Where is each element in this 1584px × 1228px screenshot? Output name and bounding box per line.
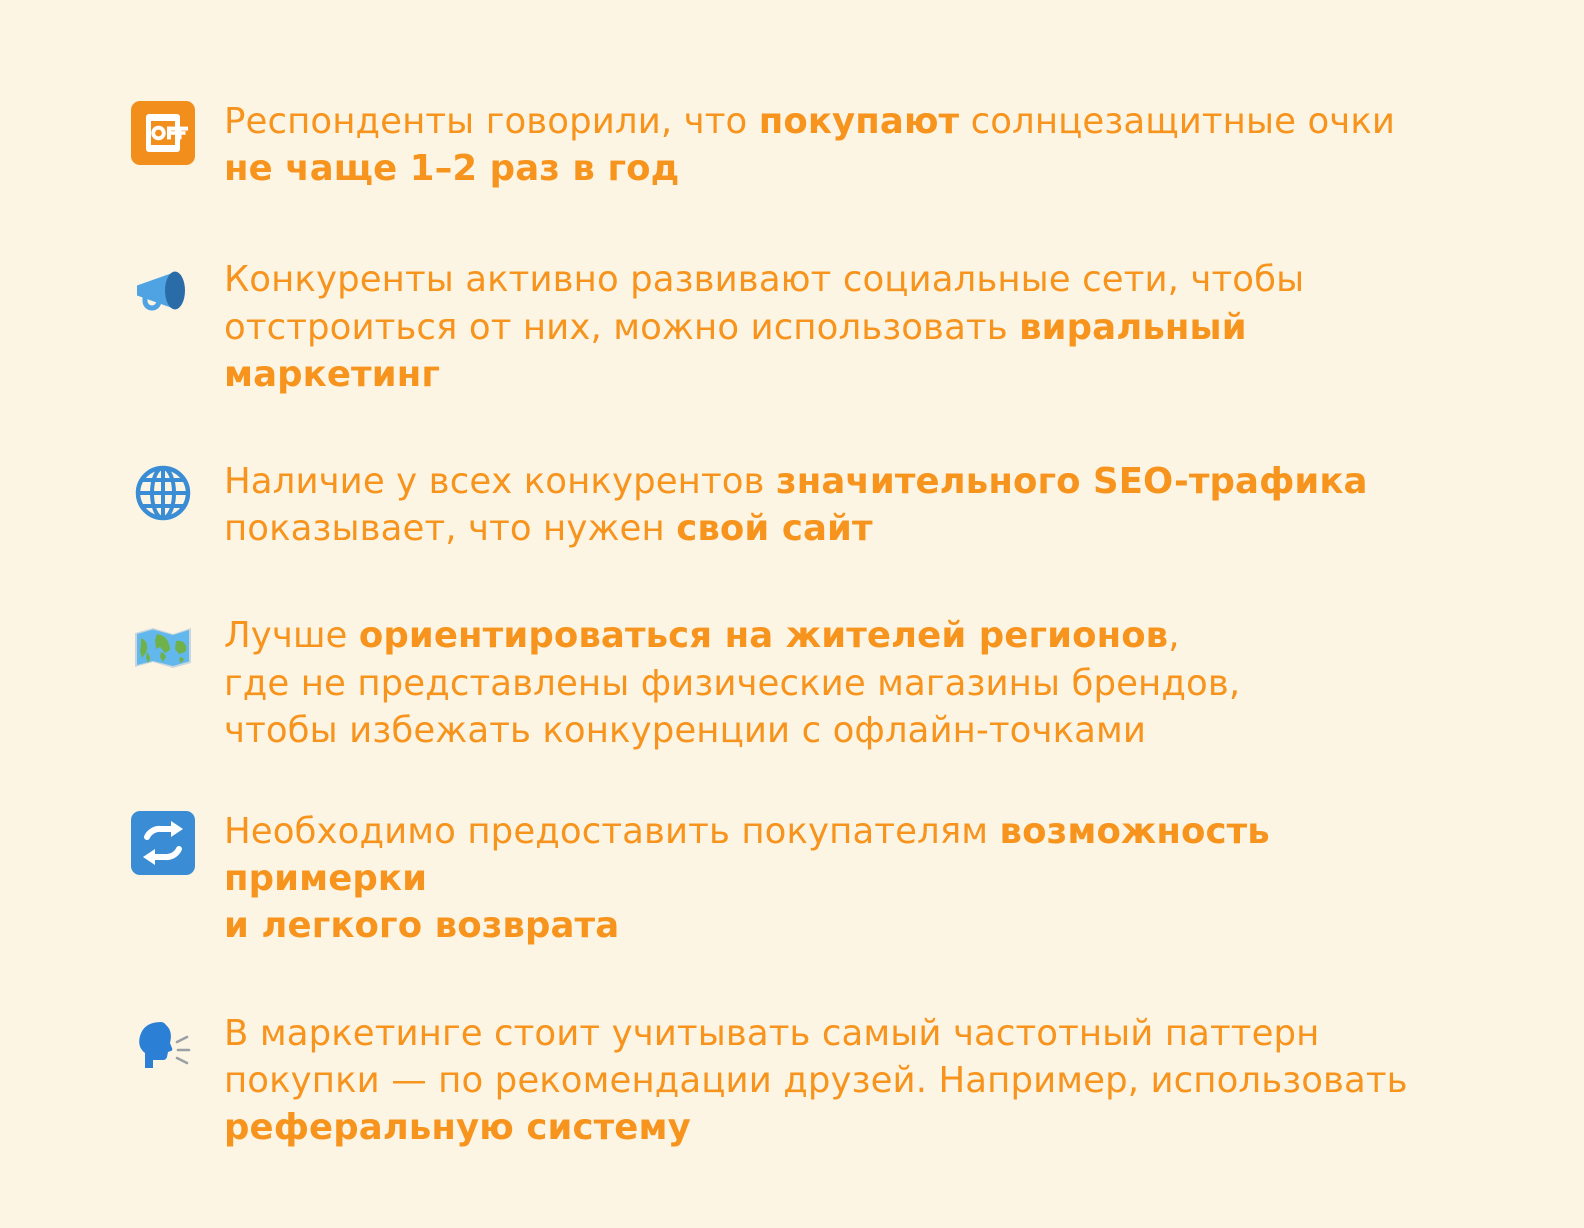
megaphone-icon bbox=[130, 258, 196, 324]
insight-text: Наличие у всех конкурентов значительного… bbox=[224, 456, 1368, 552]
insights-list: Респонденты говорили, что покупают солнц… bbox=[130, 96, 1454, 1151]
plain-text: В маркетинге стоит учитывать самый часто… bbox=[224, 1013, 1319, 1054]
emphasis-text: покупают bbox=[759, 101, 960, 142]
insight-text-line: и легкого возврата bbox=[224, 902, 1454, 949]
emphasis-text: ориентироваться на жителей регионов bbox=[359, 615, 1168, 656]
emphasis-text: не чаще 1–2 раз в год bbox=[224, 148, 679, 189]
insight-item: Наличие у всех конкурентов значительного… bbox=[130, 456, 1454, 552]
plain-text: солнцезащитные очки bbox=[959, 101, 1395, 142]
insight-text-line: не чаще 1–2 раз в год bbox=[224, 145, 1395, 192]
insight-text-line: Респонденты говорили, что покупают солнц… bbox=[224, 98, 1395, 145]
emphasis-text: реферальную систему bbox=[224, 1107, 691, 1148]
world-map-icon bbox=[130, 614, 196, 680]
insight-text-line: Конкуренты активно развивают социальные … bbox=[224, 256, 1454, 303]
insights-slide: Респонденты говорили, что покупают солнц… bbox=[0, 0, 1584, 1228]
insight-text: Лучше ориентироваться на жителей регионо… bbox=[224, 610, 1240, 754]
insight-text-line: покупки — по рекомендации друзей. Наприм… bbox=[224, 1057, 1408, 1104]
insight-text-line: Необходимо предоставить покупателям возм… bbox=[224, 808, 1454, 902]
repeat-exchange-icon bbox=[130, 810, 196, 876]
insight-text-line: В маркетинге стоит учитывать самый часто… bbox=[224, 1010, 1408, 1057]
plain-text: Необходимо предоставить покупателям bbox=[224, 811, 1000, 852]
insight-text: Конкуренты активно развивают социальные … bbox=[224, 254, 1454, 398]
plain-text: , bbox=[1168, 615, 1179, 656]
insight-text-line: Наличие у всех конкурентов значительного… bbox=[224, 458, 1368, 505]
insight-item: Необходимо предоставить покупателям возм… bbox=[130, 806, 1454, 950]
globe-icon bbox=[130, 460, 196, 526]
mobile-off-icon bbox=[130, 100, 196, 166]
plain-text: где не представлены физические магазины … bbox=[224, 663, 1240, 704]
plain-text: Лучше bbox=[224, 615, 359, 656]
plain-text: покупки — по рекомендации друзей. Наприм… bbox=[224, 1060, 1408, 1101]
insight-text-line: Лучше ориентироваться на жителей регионо… bbox=[224, 612, 1240, 659]
emphasis-text: значительного SEO-трафика bbox=[776, 461, 1368, 502]
insight-text-line: чтобы избежать конкуренции с офлайн-точк… bbox=[224, 707, 1240, 754]
insight-text-line: отстроиться от них, можно использовать в… bbox=[224, 304, 1454, 398]
insight-item: Лучше ориентироваться на жителей регионо… bbox=[130, 610, 1454, 754]
insight-text: В маркетинге стоит учитывать самый часто… bbox=[224, 1008, 1408, 1152]
emphasis-text: и легкого возврата bbox=[224, 905, 619, 946]
insight-item: Конкуренты активно развивают социальные … bbox=[130, 254, 1454, 398]
plain-text: отстроиться от них, можно использовать bbox=[224, 307, 1019, 348]
emphasis-text: свой сайт bbox=[676, 508, 872, 549]
plain-text: чтобы избежать конкуренции с офлайн-точк… bbox=[224, 710, 1146, 751]
plain-text: Наличие у всех конкурентов bbox=[224, 461, 776, 502]
insight-text-line: где не представлены физические магазины … bbox=[224, 660, 1240, 707]
insight-item: Респонденты говорили, что покупают солнц… bbox=[130, 96, 1454, 192]
insight-text-line: реферальную систему bbox=[224, 1104, 1408, 1151]
plain-text: Респонденты говорили, что bbox=[224, 101, 759, 142]
insight-text-line: показывает, что нужен свой сайт bbox=[224, 505, 1368, 552]
plain-text: Конкуренты активно развивают социальные … bbox=[224, 259, 1304, 300]
speaking-head-icon bbox=[130, 1012, 196, 1078]
insight-text: Необходимо предоставить покупателям возм… bbox=[224, 806, 1454, 950]
insight-text: Респонденты говорили, что покупают солнц… bbox=[224, 96, 1395, 192]
plain-text: показывает, что нужен bbox=[224, 508, 676, 549]
insight-item: В маркетинге стоит учитывать самый часто… bbox=[130, 1008, 1454, 1152]
